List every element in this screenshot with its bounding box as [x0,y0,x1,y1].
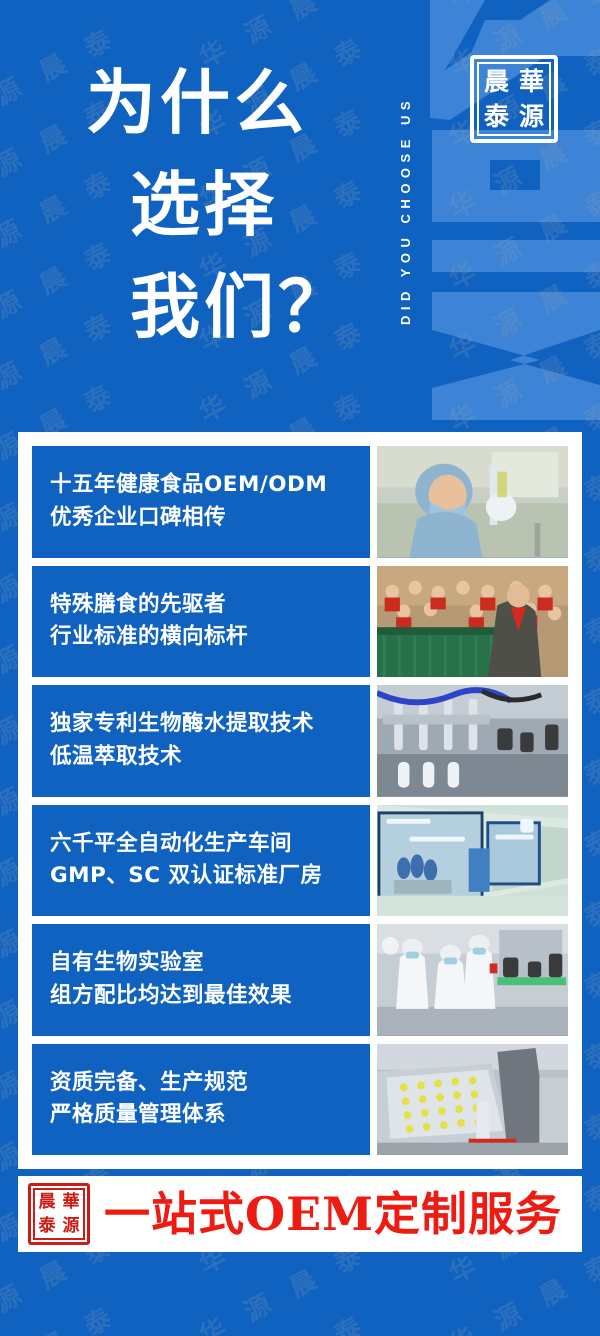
feature-card-1-line-1: 十五年健康食品OEM/ODM [50,469,352,502]
footer-seal-inner-grid: 晨 華 泰 源 [33,1188,85,1240]
feature-card-5-line-2: 组方配比均达到最佳效果 [50,980,352,1013]
footer-slogan-bar: 晨 華 泰 源 一站式OEM定制服务 [18,1176,582,1252]
feature-row: 六千平全自动化生产车间 GMP、SC 双认证标准厂房 [32,805,568,917]
seal-char-top-left: 晨 [479,64,514,99]
company-seal-logo-white: 晨 華 泰 源 [470,55,558,143]
feature-card-1-line-2: 优秀企业口碑相传 [50,502,352,535]
poster-header: 为什么 选择 我们？ DID YOU CHOOSE US 晨 華 泰 源 [0,0,600,432]
feature-card-2[interactable]: 特殊膳食的先驱者 行业标准的横向标杆 [32,566,370,678]
feature-card-4-line-1: 六千平全自动化生产车间 [50,828,352,861]
feature-card-2-line-1: 特殊膳食的先驱者 [50,589,352,622]
title-line-1: 为什么 [86,52,386,154]
vertical-english-caption: DID YOU CHOOSE US [398,26,413,394]
feature-card-6[interactable]: 资质完备、生产规范 严格质量管理体系 [32,1044,370,1156]
company-seal-logo-red: 晨 華 泰 源 [28,1183,90,1245]
seal-char-top-right: 華 [514,64,549,99]
feature-card-4[interactable]: 六千平全自动化生产车间 GMP、SC 双认证标准厂房 [32,805,370,917]
photo-6-svg [377,1044,568,1156]
feature-row: 自有生物实验室 组方配比均达到最佳效果 [32,924,568,1036]
photo-2-svg [377,566,568,678]
watermark-text: 华 源 晨 泰 [192,1303,375,1336]
feature-photo-lab-workers [377,924,568,1036]
footer-slogan-text: 一站式OEM定制服务 [104,1191,562,1237]
feature-card-6-line-1: 资质完备、生产规范 [50,1067,352,1100]
title-line-3: 我们？ [130,256,386,358]
feature-row: 特殊膳食的先驱者 行业标准的横向标杆 [32,566,568,678]
footer-seal-char-bottom-right: 源 [59,1214,83,1238]
feature-card-5-line-1: 自有生物实验室 [50,947,352,980]
feature-photo-blister-packing [377,1044,568,1156]
feature-photo-lab-technician [377,446,568,558]
feature-card-3-line-2: 低温萃取技术 [50,741,352,774]
footer-seal-char-bottom-left: 泰 [35,1214,59,1238]
watermark-text: 华 源 晨 泰 [0,1294,124,1336]
feature-card-6-line-2: 严格质量管理体系 [50,1099,352,1132]
footer-seal-char-top-right: 華 [59,1190,83,1214]
feature-photo-filling-line [377,685,568,797]
feature-card-3-line-1: 独家专利生物酶水提取技术 [50,708,352,741]
page-title: 为什么 选择 我们？ [86,52,386,359]
watermark-row: 华 源 晨 泰华 源 晨 泰华 源 晨 泰华 源 晨 泰 [0,1271,568,1336]
features-panel: 十五年健康食品OEM/ODM 优秀企业口碑相传 [18,432,582,1169]
feature-photo-conference-audience [377,566,568,678]
footer-seal-char-top-left: 晨 [35,1190,59,1214]
photo-4-svg [377,805,568,917]
feature-row: 十五年健康食品OEM/ODM 优秀企业口碑相传 [32,446,568,558]
seal-char-bottom-left: 泰 [479,99,514,134]
photo-1-svg [377,446,568,558]
seal-inner-grid: 晨 華 泰 源 [477,62,551,136]
feature-card-4-line-2: GMP、SC 双认证标准厂房 [50,860,352,893]
feature-card-5[interactable]: 自有生物实验室 组方配比均达到最佳效果 [32,924,370,1036]
watermark-text: 华 源 晨 泰 [442,1241,600,1336]
photo-5-svg [377,924,568,1036]
seal-char-bottom-right: 源 [514,99,549,134]
poster-root: 为什么 选择 我们？ DID YOU CHOOSE US 晨 華 泰 源 十五年… [0,0,600,1336]
feature-card-3[interactable]: 独家专利生物酶水提取技术 低温萃取技术 [32,685,370,797]
title-line-2: 选择 [130,154,386,256]
feature-card-2-line-2: 行业标准的横向标杆 [50,621,352,654]
feature-row: 资质完备、生产规范 严格质量管理体系 [32,1044,568,1156]
photo-3-svg [377,685,568,797]
feature-row: 独家专利生物酶水提取技术 低温萃取技术 [32,685,568,797]
feature-card-1[interactable]: 十五年健康食品OEM/ODM 优秀企业口碑相传 [32,446,370,558]
feature-photo-cleanroom-corridor [377,805,568,917]
